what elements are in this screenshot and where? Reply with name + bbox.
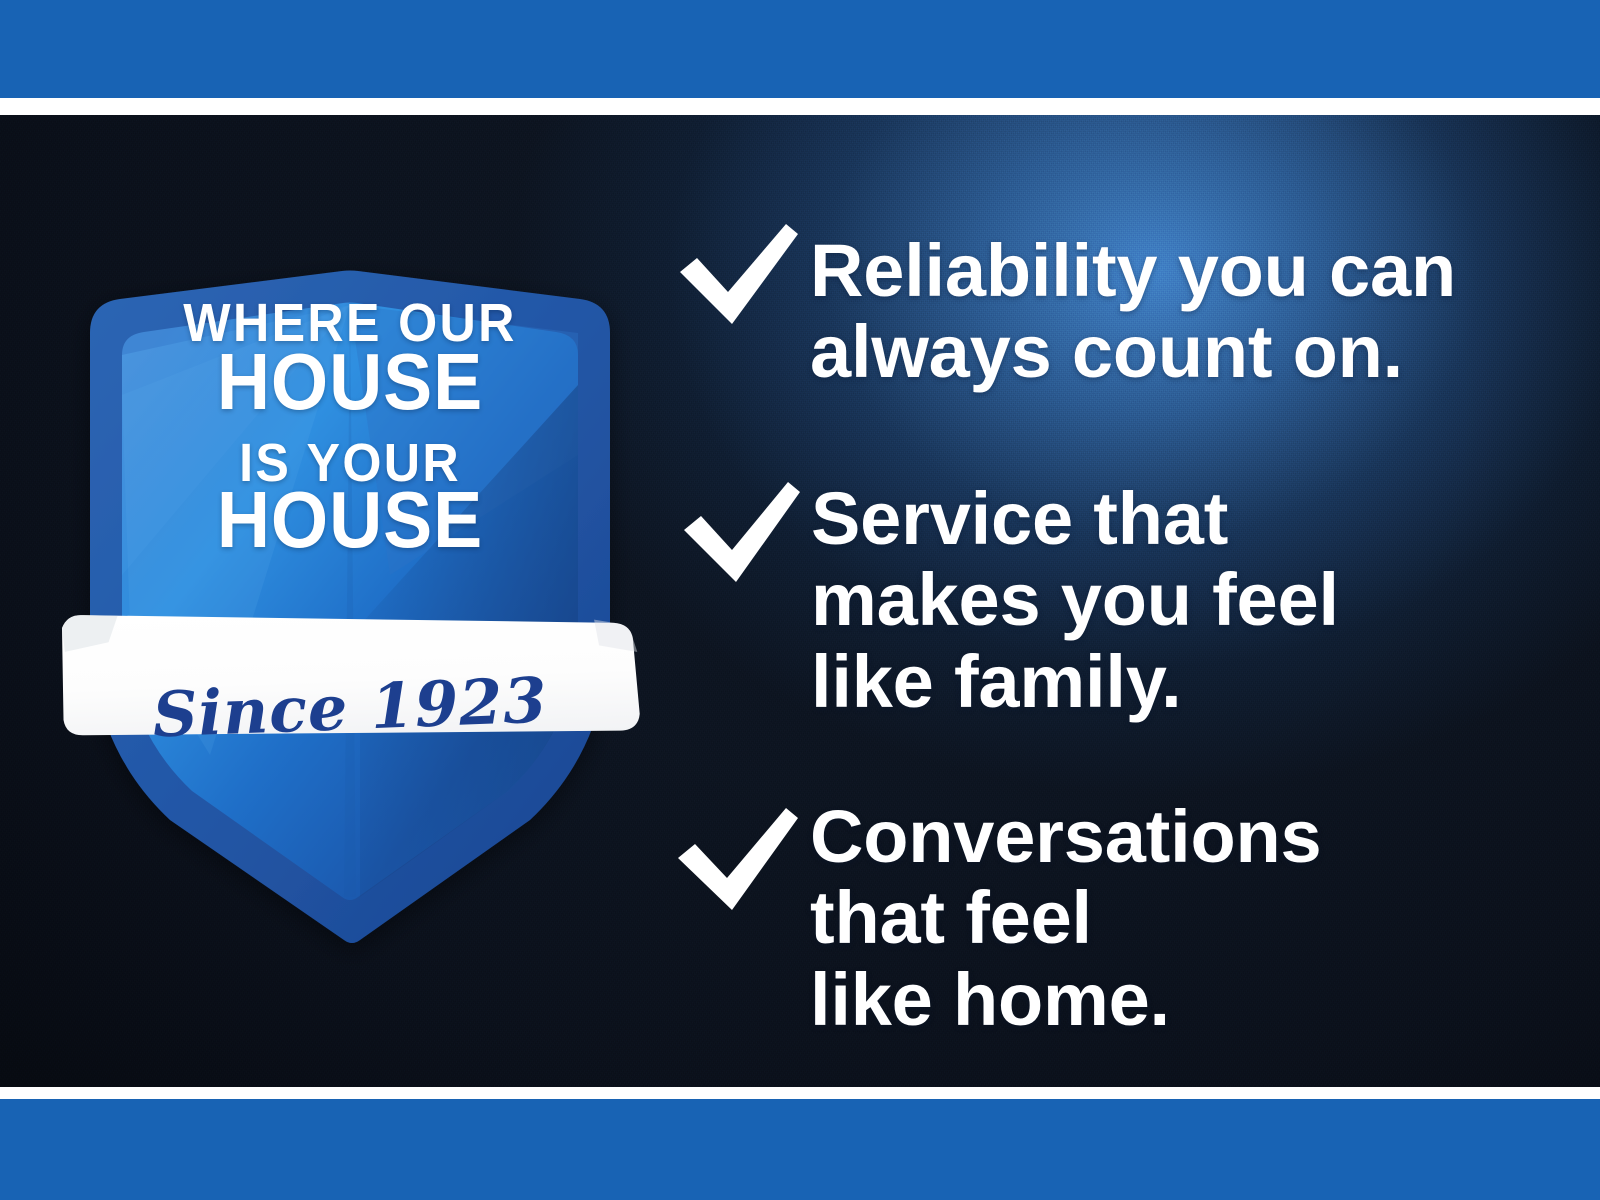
bottom-white-divider xyxy=(0,1087,1600,1099)
list-item-text: Conversations that feel like home. xyxy=(810,790,1321,1040)
list-item: Reliability you can always count on. xyxy=(670,220,1456,393)
shield-badge: WHERE OUR HOUSE IS YOUR HOUSE Since 1923 xyxy=(60,155,640,965)
checkmark-icon xyxy=(670,220,800,330)
list-item: Service that makes you feel like family. xyxy=(676,470,1339,722)
checkmark-icon xyxy=(668,804,800,916)
list-item: Conversations that feel like home. xyxy=(668,790,1321,1040)
checkmark-icon xyxy=(676,480,801,590)
bottom-brand-bar xyxy=(0,1099,1600,1200)
top-white-divider xyxy=(0,98,1600,115)
benefits-list: Reliability you can always count on. Ser… xyxy=(660,115,1560,1087)
promo-graphic: WHERE OUR HOUSE IS YOUR HOUSE Since 1923… xyxy=(0,0,1600,1200)
list-item-text: Service that makes you feel like family. xyxy=(811,470,1339,722)
shield-graphic xyxy=(60,155,640,965)
list-item-text: Reliability you can always count on. xyxy=(810,220,1456,393)
top-brand-bar xyxy=(0,0,1600,98)
